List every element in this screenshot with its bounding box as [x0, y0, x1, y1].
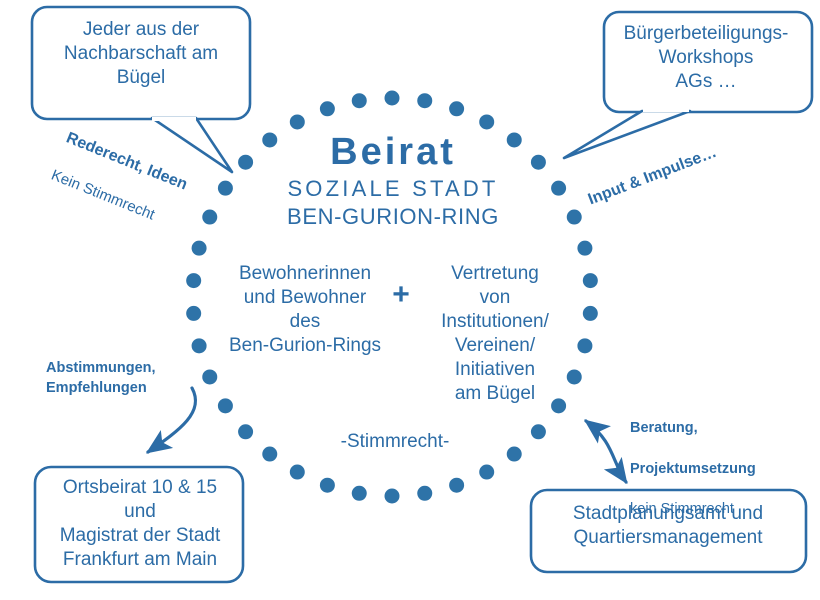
ring-dot: [479, 114, 494, 129]
ring-dot: [507, 447, 522, 462]
ring-dot: [479, 465, 494, 480]
ring-dot: [186, 273, 201, 288]
ring-dot: [186, 306, 201, 321]
ring-dot: [567, 210, 582, 225]
box-ortsbeirat-label: Ortsbeirat 10 & 15 und Magistrat der Sta…: [40, 476, 240, 572]
ring-title: Beirat: [243, 129, 543, 177]
ring-dot: [352, 486, 367, 501]
ring-dot: [577, 241, 592, 256]
ring-dot: [218, 398, 233, 413]
ring-dot: [577, 338, 592, 353]
ring-dot: [417, 486, 432, 501]
ring-dot: [449, 478, 464, 493]
ring-dot: [290, 114, 305, 129]
members-institutions: Vertretung von Institutionen/ Vereinen/ …: [416, 262, 574, 406]
ring-subtitle-line1: SOZIALE STADT: [243, 175, 543, 203]
ring-dot: [583, 273, 598, 288]
diagram-canvas: Jeder aus der Nachbarschaft am Bügel Bür…: [0, 0, 820, 600]
bubble-workshops-label: Bürgerbeteiligungs- Workshops AGs …: [604, 22, 808, 94]
ring-dot: [583, 306, 598, 321]
ring-dot: [385, 489, 400, 504]
ring-dot: [262, 447, 277, 462]
ring-dot: [449, 101, 464, 116]
ring-dot: [320, 101, 335, 116]
ring-dot: [202, 369, 217, 384]
arrow-ring-stadtplanung: [586, 421, 626, 482]
arrow-label-beratung-line2: Projektumsetzung: [630, 459, 810, 479]
ring-dot: [551, 181, 566, 196]
voting-right-note: -Stimmrecht-: [305, 430, 485, 454]
ring-dot: [417, 93, 432, 108]
ring-dot: [320, 478, 335, 493]
ring-dot: [238, 424, 253, 439]
arrow-label-abstimmungen: Abstimmungen, Empfehlungen: [46, 358, 196, 399]
arrow-label-beratung-line1: Beratung,: [630, 418, 810, 438]
ring-dot: [385, 91, 400, 106]
box-stadtplanung-label: Stadtplanungsamt und Quartiersmanagement: [534, 502, 802, 550]
ring-dot: [290, 465, 305, 480]
ring-subtitle-line2: BEN-GURION-RING: [243, 203, 543, 231]
members-residents: Bewohnerinnen und Bewohner des Ben-Gurio…: [216, 262, 394, 358]
ring-dot: [192, 338, 207, 353]
plus-icon: +: [386, 276, 416, 314]
bubble-nachbarschaft-label: Jeder aus der Nachbarschaft am Bügel: [38, 18, 244, 90]
ring-dot: [531, 424, 546, 439]
ring-dot: [352, 93, 367, 108]
